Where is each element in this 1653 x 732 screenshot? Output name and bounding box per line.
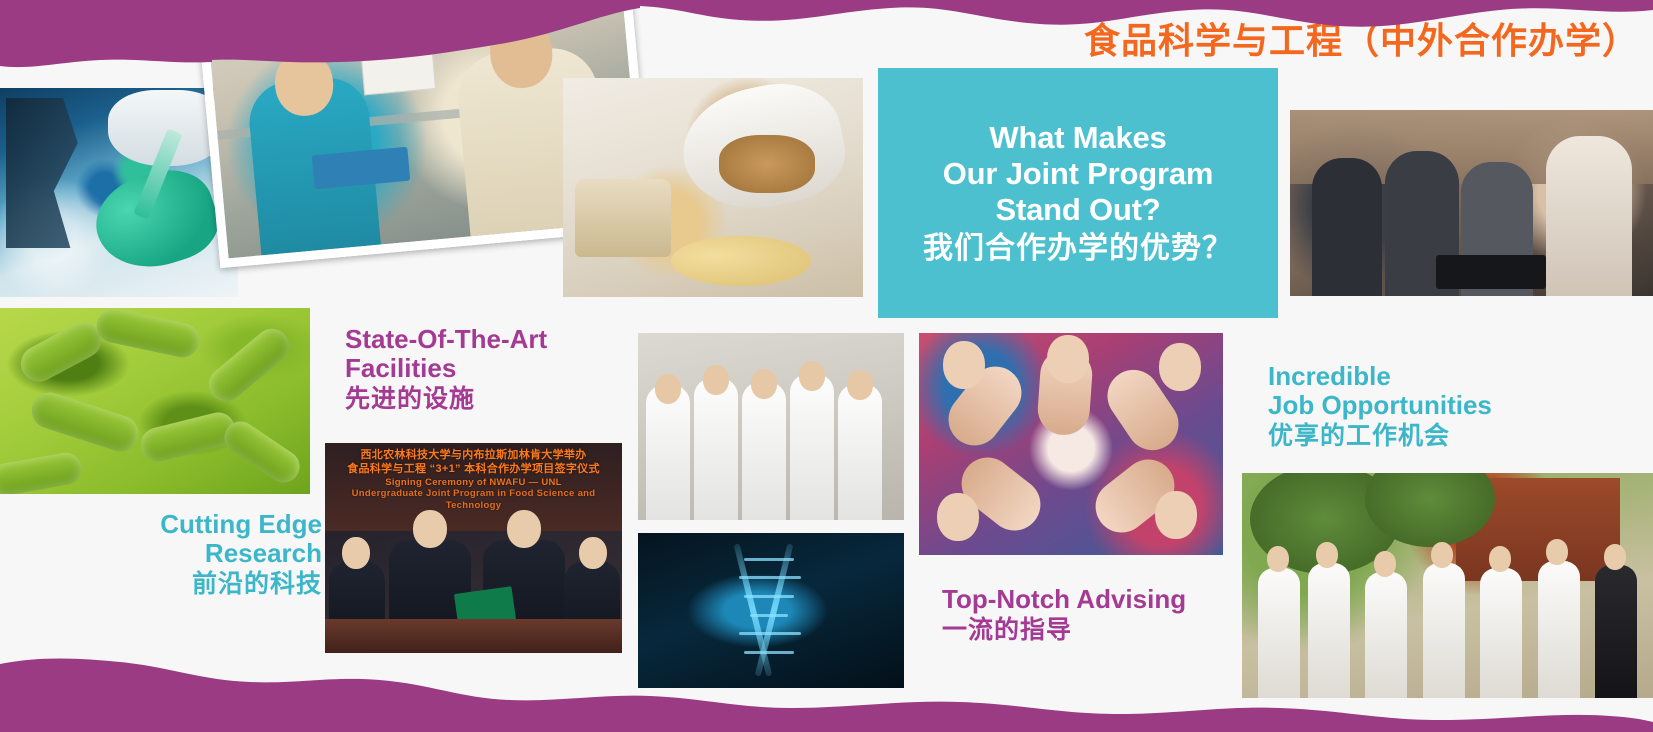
student-figure xyxy=(1365,572,1407,698)
official-face xyxy=(342,537,370,569)
caption-facilities-zh: 先进的设施 xyxy=(345,385,547,413)
student-face xyxy=(1159,343,1201,391)
photo-microbes-green xyxy=(0,308,310,494)
student-figure xyxy=(1423,563,1465,698)
caption-jobs-zh: 优享的工作机会 xyxy=(1268,422,1492,450)
bacteria-rod xyxy=(202,322,296,408)
student-head xyxy=(1431,542,1453,568)
student-figure xyxy=(1595,565,1637,698)
student-head xyxy=(1604,544,1626,570)
student-head xyxy=(799,361,825,391)
bacteria-rod xyxy=(27,388,143,456)
caption-research: Cutting EdgeResearch 前沿的科技 xyxy=(60,510,322,598)
microscope-shape xyxy=(6,98,98,248)
callout-text: What Makes Our Joint Program Stand Out? … xyxy=(923,120,1233,267)
dna-rung xyxy=(744,558,794,561)
bacteria-rod xyxy=(218,415,306,489)
ceremony-banner-line3: Signing Ceremony of NWAFU — UNL xyxy=(325,477,622,489)
student-head xyxy=(847,370,873,400)
food-slices-shape xyxy=(671,236,811,286)
grain-pile-shape xyxy=(719,135,815,193)
photo-students-laptop xyxy=(1290,110,1653,296)
student-figure xyxy=(1308,563,1350,698)
bacteria-rod xyxy=(15,316,108,388)
lab-coat-figure xyxy=(646,385,690,520)
photo-lab-microscope xyxy=(0,88,238,297)
student-head xyxy=(655,374,681,404)
caption-jobs: IncredibleJob Opportunities 优享的工作机会 xyxy=(1268,362,1492,450)
poster-canvas: 西北农林科技大学与内布拉斯加林肯大学举办 食品科学与工程 “3+1” 本科合作办… xyxy=(0,0,1653,732)
student-figure xyxy=(1480,568,1522,699)
dna-rung xyxy=(739,576,801,579)
callout-en-line-2: Our Joint Program xyxy=(923,156,1233,192)
callout-en-line-1: What Makes xyxy=(923,120,1233,156)
dna-rung xyxy=(750,614,788,617)
dna-strand xyxy=(733,544,772,678)
student-face xyxy=(937,493,979,541)
student-figure xyxy=(1538,561,1580,698)
callout-en-line-3: Stand Out? xyxy=(923,192,1233,228)
callout-zh-line: 我们合作办学的优势？ xyxy=(923,231,1233,266)
blue-tray-shape xyxy=(311,147,410,190)
student-head xyxy=(1267,546,1289,572)
lab-coat-figure xyxy=(790,374,834,520)
equipment-box-shape xyxy=(359,35,436,95)
student-face xyxy=(1155,491,1197,539)
bacteria-rod xyxy=(0,450,84,494)
caption-advising-zh: 一流的指导 xyxy=(942,616,1186,644)
laptop-shape xyxy=(1436,255,1546,289)
student-head xyxy=(751,369,777,399)
student-figure xyxy=(1258,568,1300,699)
caption-jobs-en: IncredibleJob Opportunities xyxy=(1268,362,1492,420)
ceremony-banner: 西北农林科技大学与内布拉斯加林肯大学举办 食品科学与工程 “3+1” 本科合作办… xyxy=(325,443,622,531)
student-head xyxy=(1316,542,1338,568)
student-face xyxy=(943,341,985,389)
photo-dna-helix xyxy=(638,533,904,688)
bacteria-rod xyxy=(94,308,203,360)
lab-coat-figure xyxy=(742,382,786,520)
student-figure xyxy=(1312,158,1382,296)
student-head xyxy=(1489,546,1511,572)
ceremony-table xyxy=(325,619,622,653)
student-head xyxy=(1374,551,1396,577)
lab-coat-figure xyxy=(838,384,882,521)
photo-campus-walk xyxy=(1242,473,1653,698)
student-head xyxy=(703,365,729,395)
official-face xyxy=(507,510,541,548)
dna-rung xyxy=(739,632,801,635)
food-jar-shape xyxy=(575,179,671,257)
caption-advising: Top-Notch Advising 一流的指导 xyxy=(942,585,1186,644)
photo-hands-circle xyxy=(919,333,1223,555)
student-head xyxy=(1546,539,1568,565)
photo-whitecoat-group xyxy=(638,333,904,520)
dna-strand xyxy=(755,544,794,678)
student-figure xyxy=(1546,136,1632,296)
page-title: 食品科学与工程（中外合作办学） xyxy=(1084,12,1639,64)
student-face xyxy=(1047,335,1089,383)
official-face xyxy=(413,510,447,548)
ceremony-banner-line1: 西北农林科技大学与内布拉斯加林肯大学举办 xyxy=(325,443,622,463)
caption-facilities: State-Of-The-ArtFacilities 先进的设施 xyxy=(345,325,547,413)
photo-food-grains xyxy=(563,78,863,297)
ceremony-banner-line4: Undergraduate Joint Program in Food Scie… xyxy=(325,488,622,512)
callout-box: What Makes Our Joint Program Stand Out? … xyxy=(878,68,1278,318)
ceremony-banner-line2: 食品科学与工程 “3+1” 本科合作办学项目签字仪式 xyxy=(325,463,622,477)
caption-research-en: Cutting EdgeResearch xyxy=(60,510,322,568)
dna-rung xyxy=(744,595,794,598)
caption-facilities-en: State-Of-The-ArtFacilities xyxy=(345,325,547,383)
dna-rung xyxy=(744,651,794,654)
caption-advising-en: Top-Notch Advising xyxy=(942,585,1186,614)
photo-signing-ceremony: 西北农林科技大学与内布拉斯加林肯大学举办 食品科学与工程 “3+1” 本科合作办… xyxy=(325,443,622,653)
caption-research-zh: 前沿的科技 xyxy=(60,570,322,598)
lab-coat-figure xyxy=(694,378,738,520)
official-face xyxy=(579,537,607,569)
